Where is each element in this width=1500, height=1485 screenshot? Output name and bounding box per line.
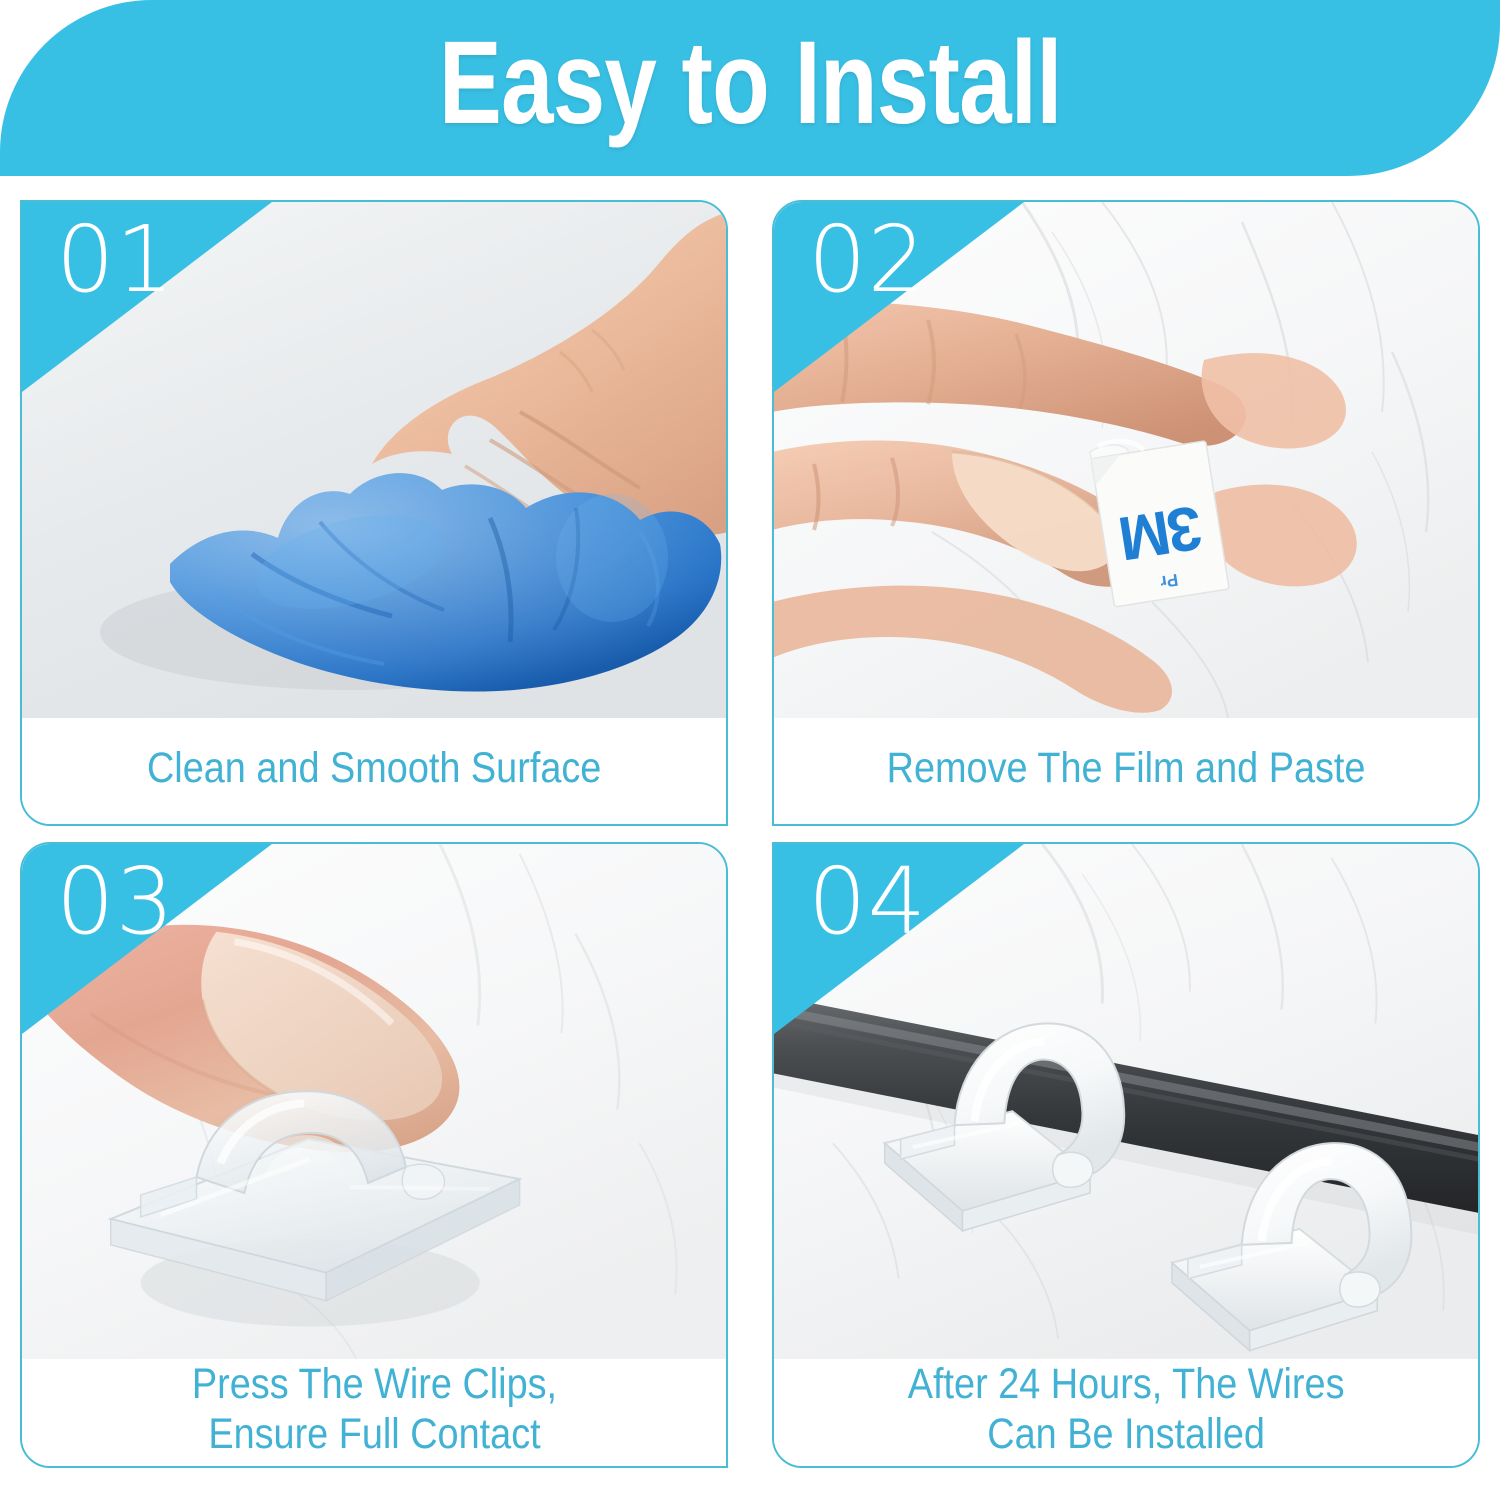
step-caption-text: Remove The Film and Paste (887, 743, 1366, 794)
photo-remove-film-illustration: 3M Pr (774, 202, 1478, 718)
page-title: Easy to Install (439, 24, 1062, 152)
step-caption-02: Remove The Film and Paste (774, 718, 1478, 824)
step-caption-text: After 24 Hours, The Wires Can Be Install… (908, 1359, 1345, 1460)
step-caption-text: Press The Wire Clips, Ensure Full Contac… (191, 1359, 556, 1460)
step-caption-04: After 24 Hours, The Wires Can Be Install… (774, 1359, 1478, 1466)
step-caption-01: Clean and Smooth Surface (22, 718, 726, 824)
header-banner: Easy to Install (0, 0, 1500, 176)
photo-wire-installed: 04 (774, 844, 1478, 1359)
steps-grid: 01 Clean and Smooth Surface (20, 200, 1480, 1468)
photo-wire-installed-illustration (774, 844, 1478, 1359)
svg-text:Pr: Pr (1158, 570, 1179, 592)
photo-remove-film: 3M Pr 02 (774, 202, 1478, 718)
svg-text:3M: 3M (1117, 492, 1207, 573)
step-card-04: 04 After 24 Hours, The Wires Can Be Inst… (772, 842, 1480, 1468)
photo-clean-surface-illustration (22, 202, 726, 718)
step-card-02: 3M Pr 02 Remove The Film and Paste (772, 200, 1480, 826)
step-caption-text: Clean and Smooth Surface (147, 743, 601, 794)
step-card-03: 03 Press The Wire Clips, Ensure Full Con… (20, 842, 728, 1468)
step-card-01: 01 Clean and Smooth Surface (20, 200, 728, 826)
step-caption-03: Press The Wire Clips, Ensure Full Contac… (22, 1359, 726, 1466)
photo-press-clip: 03 (22, 844, 726, 1359)
photo-clean-surface: 01 (22, 202, 726, 718)
photo-press-clip-illustration (22, 844, 726, 1359)
